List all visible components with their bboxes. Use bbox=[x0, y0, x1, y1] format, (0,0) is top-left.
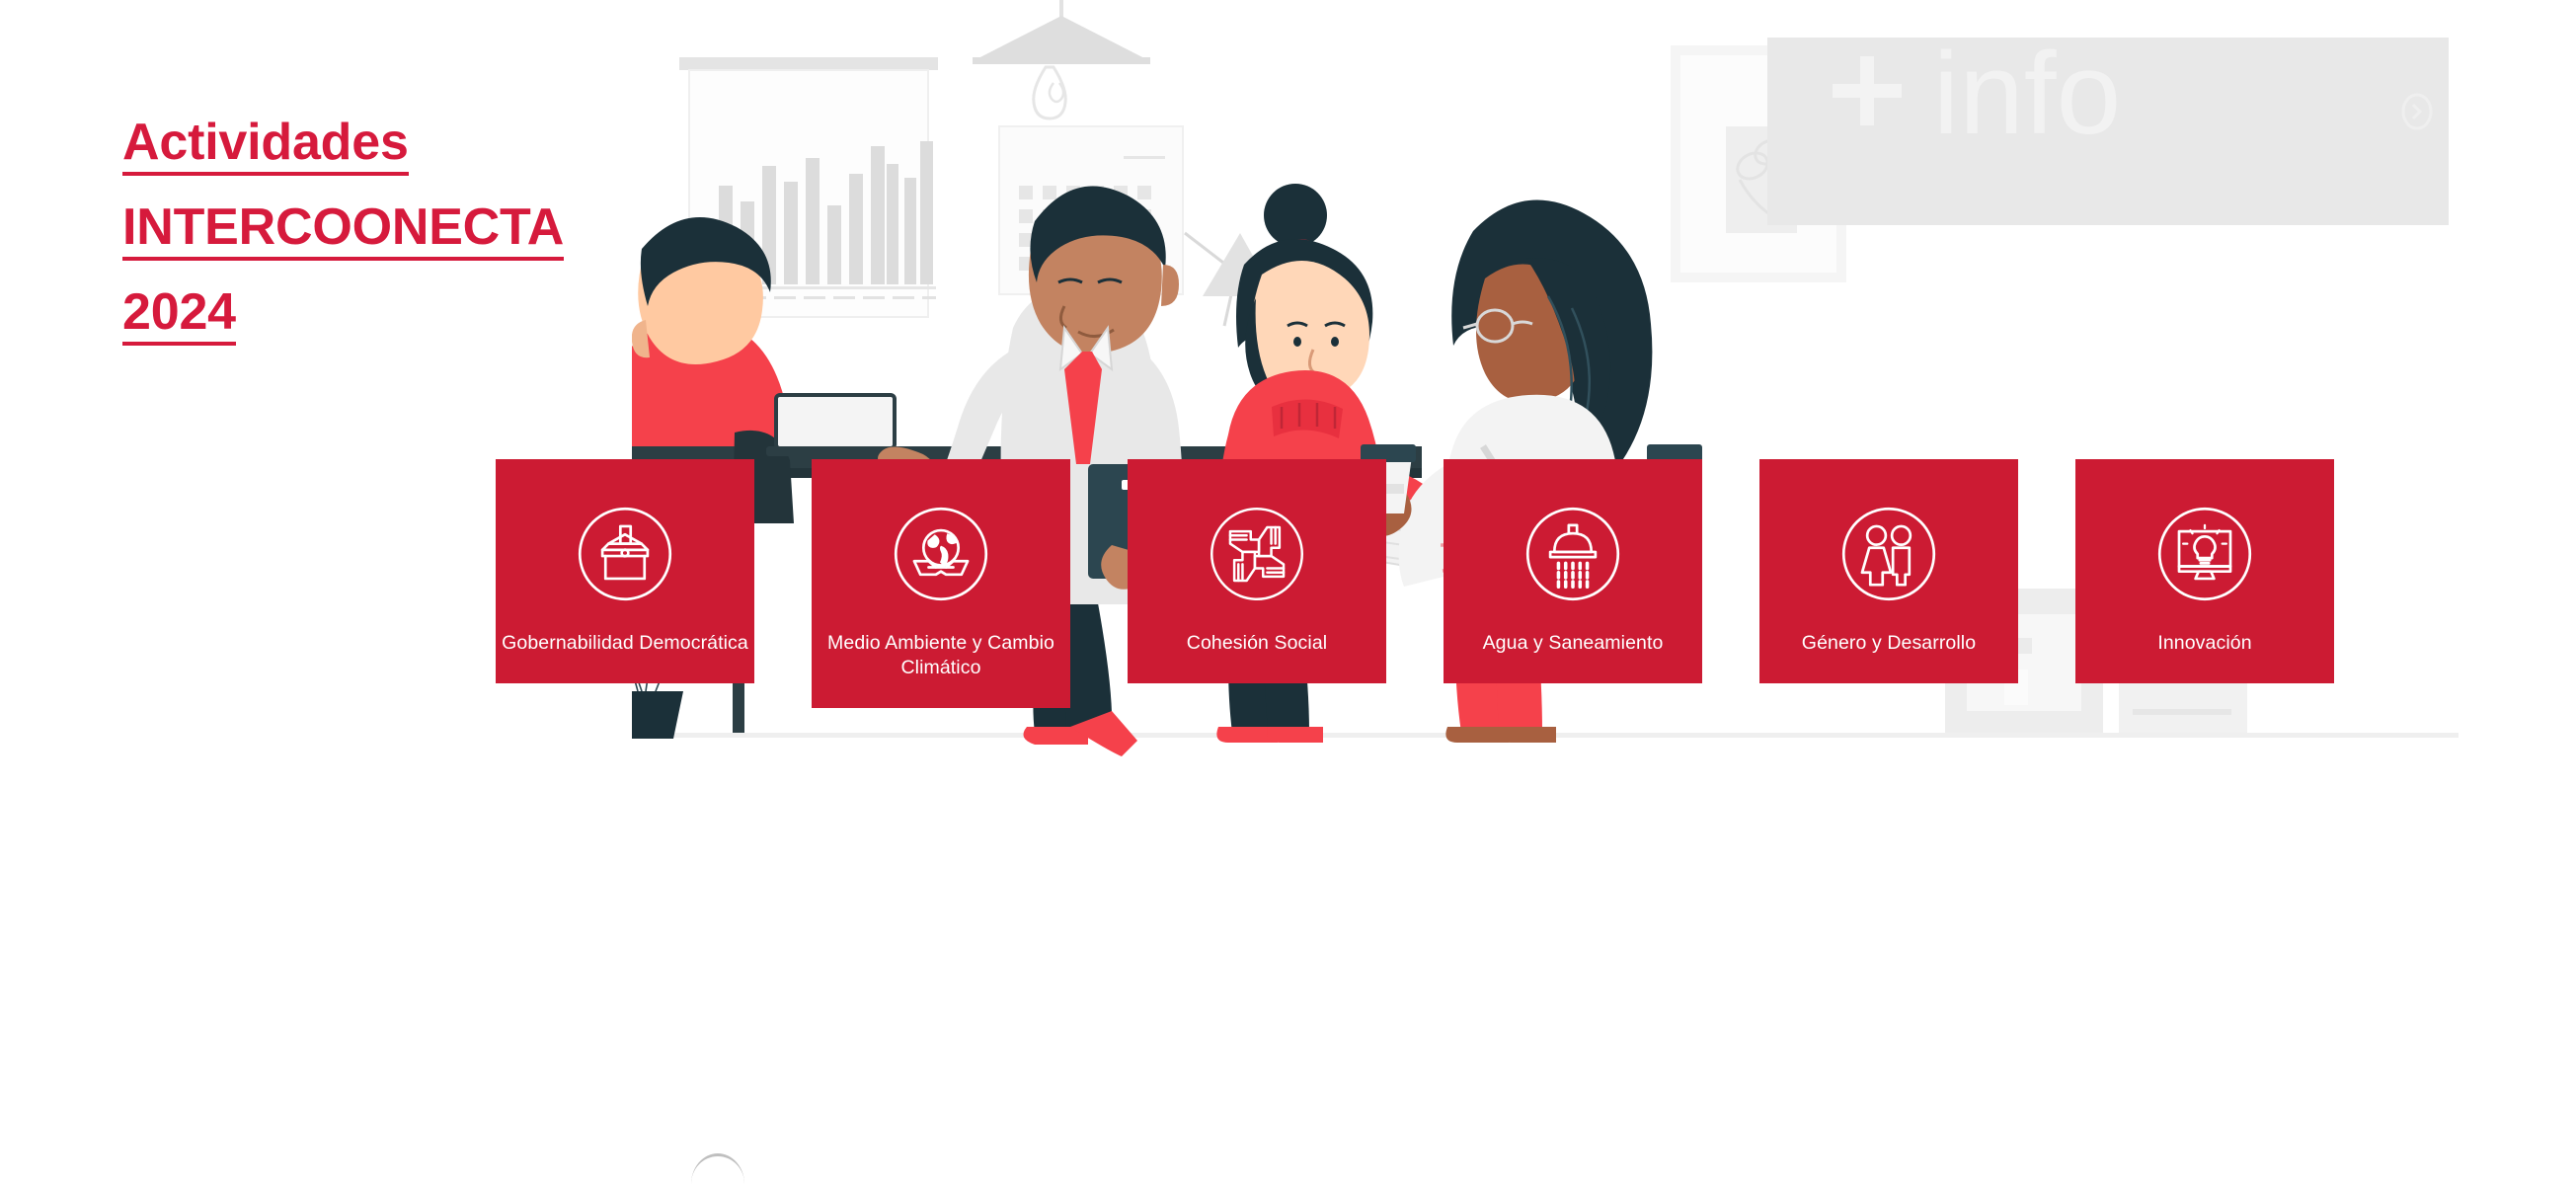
page-title: Actividades INTERCOONECTA 2024 bbox=[122, 117, 675, 346]
category-card-genero-y-desarrollo[interactable]: Género y Desarrollo bbox=[1759, 459, 2018, 683]
laptop bbox=[766, 395, 906, 456]
svg-text:info: info bbox=[1933, 29, 2121, 159]
gender-figures-icon bbox=[1837, 503, 1940, 605]
category-card-gobernabilidad-democratica[interactable]: Gobernabilidad Democrática bbox=[496, 459, 754, 683]
category-card-label: Medio Ambiente y Cambio Climático bbox=[812, 631, 1070, 680]
category-card-medio-ambiente-y-cambio-climatico[interactable]: Medio Ambiente y Cambio Climático bbox=[812, 459, 1070, 708]
page-title-line-3: 2024 bbox=[122, 286, 236, 346]
globe-in-hands-icon bbox=[890, 503, 992, 605]
bottom-partial-shape bbox=[691, 1153, 744, 1184]
page-root: info bbox=[0, 0, 2576, 1167]
monitor-bulb-icon bbox=[2153, 503, 2256, 605]
category-card-label: Género y Desarrollo bbox=[1796, 631, 1982, 656]
category-card-innovacion[interactable]: Innovación bbox=[2075, 459, 2334, 683]
plus-info-watermark: info bbox=[1767, 29, 2449, 225]
category-card-label: Gobernabilidad Democrática bbox=[496, 631, 754, 656]
page-title-line-2: INTERCOONECTA bbox=[122, 201, 564, 261]
office-meeting-illustration: info bbox=[632, 0, 2459, 908]
four-hands-icon bbox=[1206, 503, 1308, 605]
category-card-label: Innovación bbox=[2151, 631, 2257, 656]
category-card-agua-y-saneamiento[interactable]: Agua y Saneamiento bbox=[1444, 459, 1702, 683]
category-card-label: Agua y Saneamiento bbox=[1477, 631, 1670, 656]
hanging-lamp-icon bbox=[973, 0, 1150, 118]
ballot-box-icon bbox=[574, 503, 676, 605]
shower-icon bbox=[1522, 503, 1624, 605]
page-title-line-1: Actividades bbox=[122, 117, 409, 176]
category-card-cohesion-social[interactable]: Cohesión Social bbox=[1128, 459, 1386, 683]
category-card-label: Cohesión Social bbox=[1181, 631, 1333, 656]
